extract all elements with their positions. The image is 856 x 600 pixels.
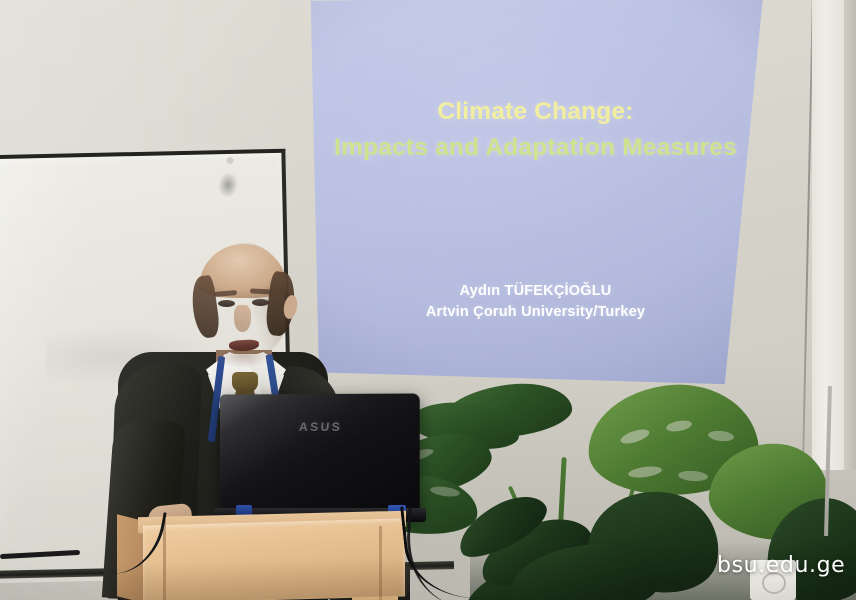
laptop-lid-gloss bbox=[220, 393, 420, 516]
podium-shadow bbox=[117, 556, 407, 600]
laptop-port-secondary[interactable] bbox=[236, 505, 252, 515]
presentation-photo: Climate Change: Impacts and Adaptation M… bbox=[0, 0, 856, 600]
asus-logo: ASUS bbox=[299, 420, 343, 434]
presenter-eye-left bbox=[218, 300, 235, 307]
site-watermark: bsu.edu.ge bbox=[717, 553, 845, 578]
presenter-eye-right bbox=[252, 299, 269, 306]
presenter-necktie-knot bbox=[232, 372, 258, 392]
laptop[interactable]: ASUS bbox=[220, 393, 420, 516]
presenter-chin-shadow bbox=[212, 348, 274, 368]
presenter-nose bbox=[234, 305, 251, 332]
